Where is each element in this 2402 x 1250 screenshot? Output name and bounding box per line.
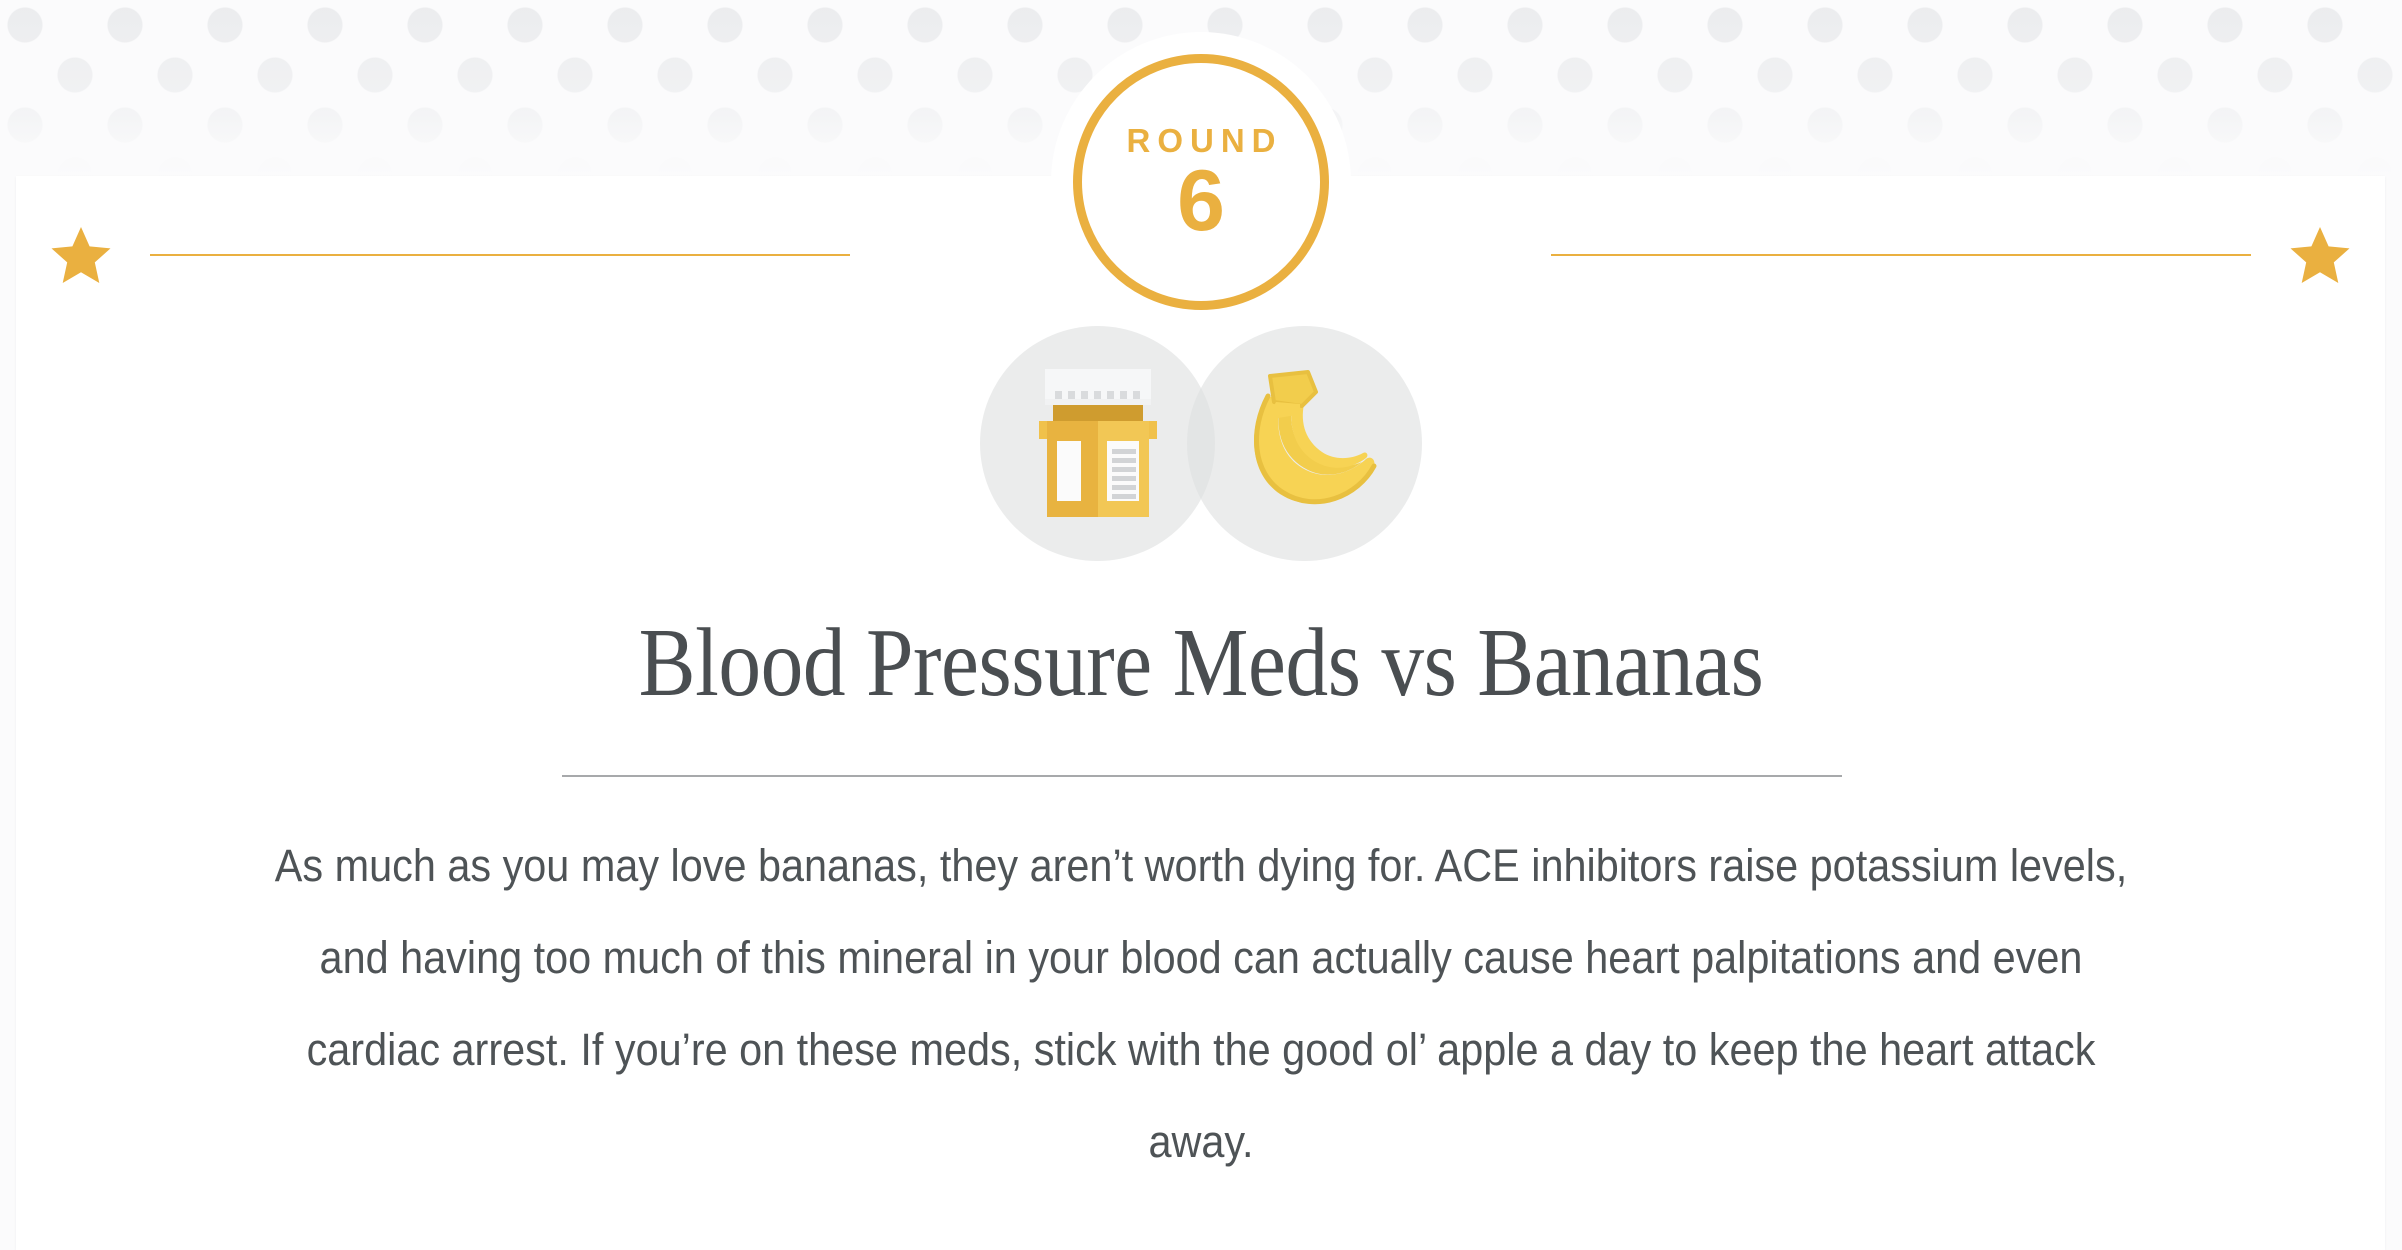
round-badge-number: 6 — [1177, 163, 1225, 240]
rule-line-left — [150, 254, 850, 256]
pill-bottle-icon-circle — [980, 326, 1215, 561]
pill-bottle-icon — [1039, 369, 1157, 517]
bananas-icon — [1230, 370, 1380, 516]
page-title: Blood Pressure Meds vs Bananas — [144, 614, 2258, 711]
star-icon — [50, 225, 112, 285]
round-badge: ROUND 6 — [1073, 54, 1329, 310]
body-paragraph: As much as you may love bananas, they ar… — [251, 820, 2152, 1188]
rule-line-right — [1551, 254, 2251, 256]
topic-icons — [0, 318, 2402, 568]
title-divider — [562, 775, 1842, 777]
bananas-icon-circle — [1187, 326, 1422, 561]
round-badge-label: ROUND — [1120, 124, 1283, 157]
star-icon — [2289, 225, 2351, 285]
